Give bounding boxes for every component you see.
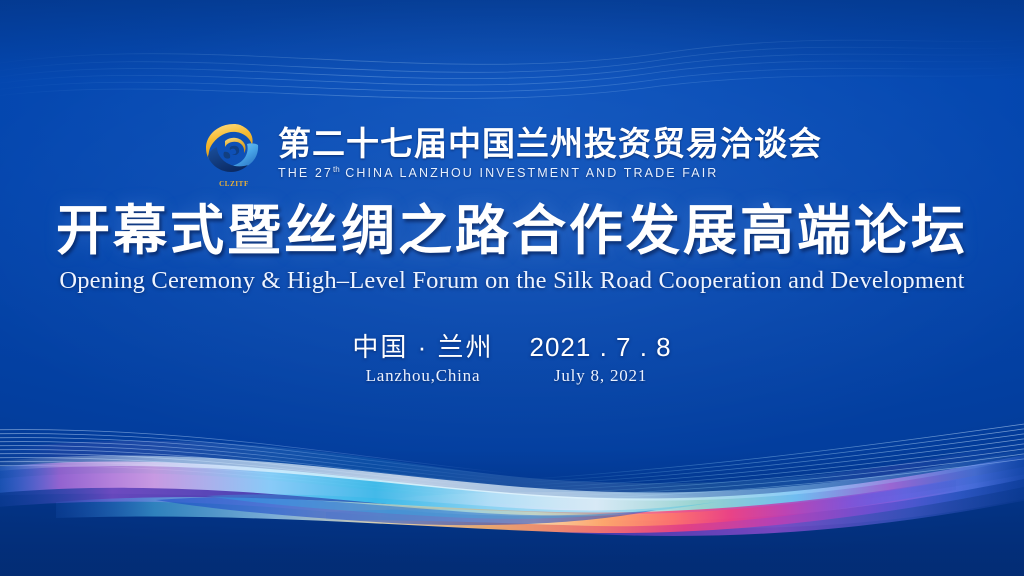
fair-name-en-rest: CHINA LANZHOU INVESTMENT AND TRADE FAIR: [345, 166, 718, 180]
event-location-en: Lanzhou,China: [352, 365, 493, 387]
fair-name-en-ordinal: th: [333, 165, 340, 174]
fair-logo-caption: CLZITF: [202, 180, 266, 188]
fair-name-cn: 第二十七届中国兰州投资贸易洽谈会: [278, 128, 822, 164]
fair-name-block: 第二十七届中国兰州投资贸易洽谈会 THE 27th CHINA LANZHOU …: [278, 128, 822, 181]
event-meta: 中国 · 兰州 Lanzhou,China 2021 . 7 . 8 July …: [0, 331, 1024, 387]
event-date-en: July 8, 2021: [530, 365, 672, 387]
fair-name-en-prefix: THE 27: [278, 166, 333, 180]
event-poster: CLZITF 第二十七届中国兰州投资贸易洽谈会 THE 27th CHINA L…: [0, 0, 1024, 576]
page-title: 开幕式暨丝绸之路合作发展高端论坛: [0, 201, 1024, 261]
clzitf-wave-emblem-icon: [202, 121, 266, 175]
event-date: 2021 . 7 . 8 July 8, 2021: [530, 331, 672, 387]
event-location-cn: 中国 · 兰州: [352, 331, 493, 363]
page-subtitle: Opening Ceremony & High–Level Forum on t…: [0, 266, 1024, 296]
event-date-cn: 2021 . 7 . 8: [530, 331, 672, 363]
fair-name-en: THE 27th CHINA LANZHOU INVESTMENT AND TR…: [278, 165, 822, 180]
fair-logo: CLZITF: [202, 121, 266, 187]
fair-identity-lockup: CLZITF 第二十七届中国兰州投资贸易洽谈会 THE 27th CHINA L…: [0, 121, 1024, 187]
event-location: 中国 · 兰州 Lanzhou,China: [352, 331, 493, 387]
